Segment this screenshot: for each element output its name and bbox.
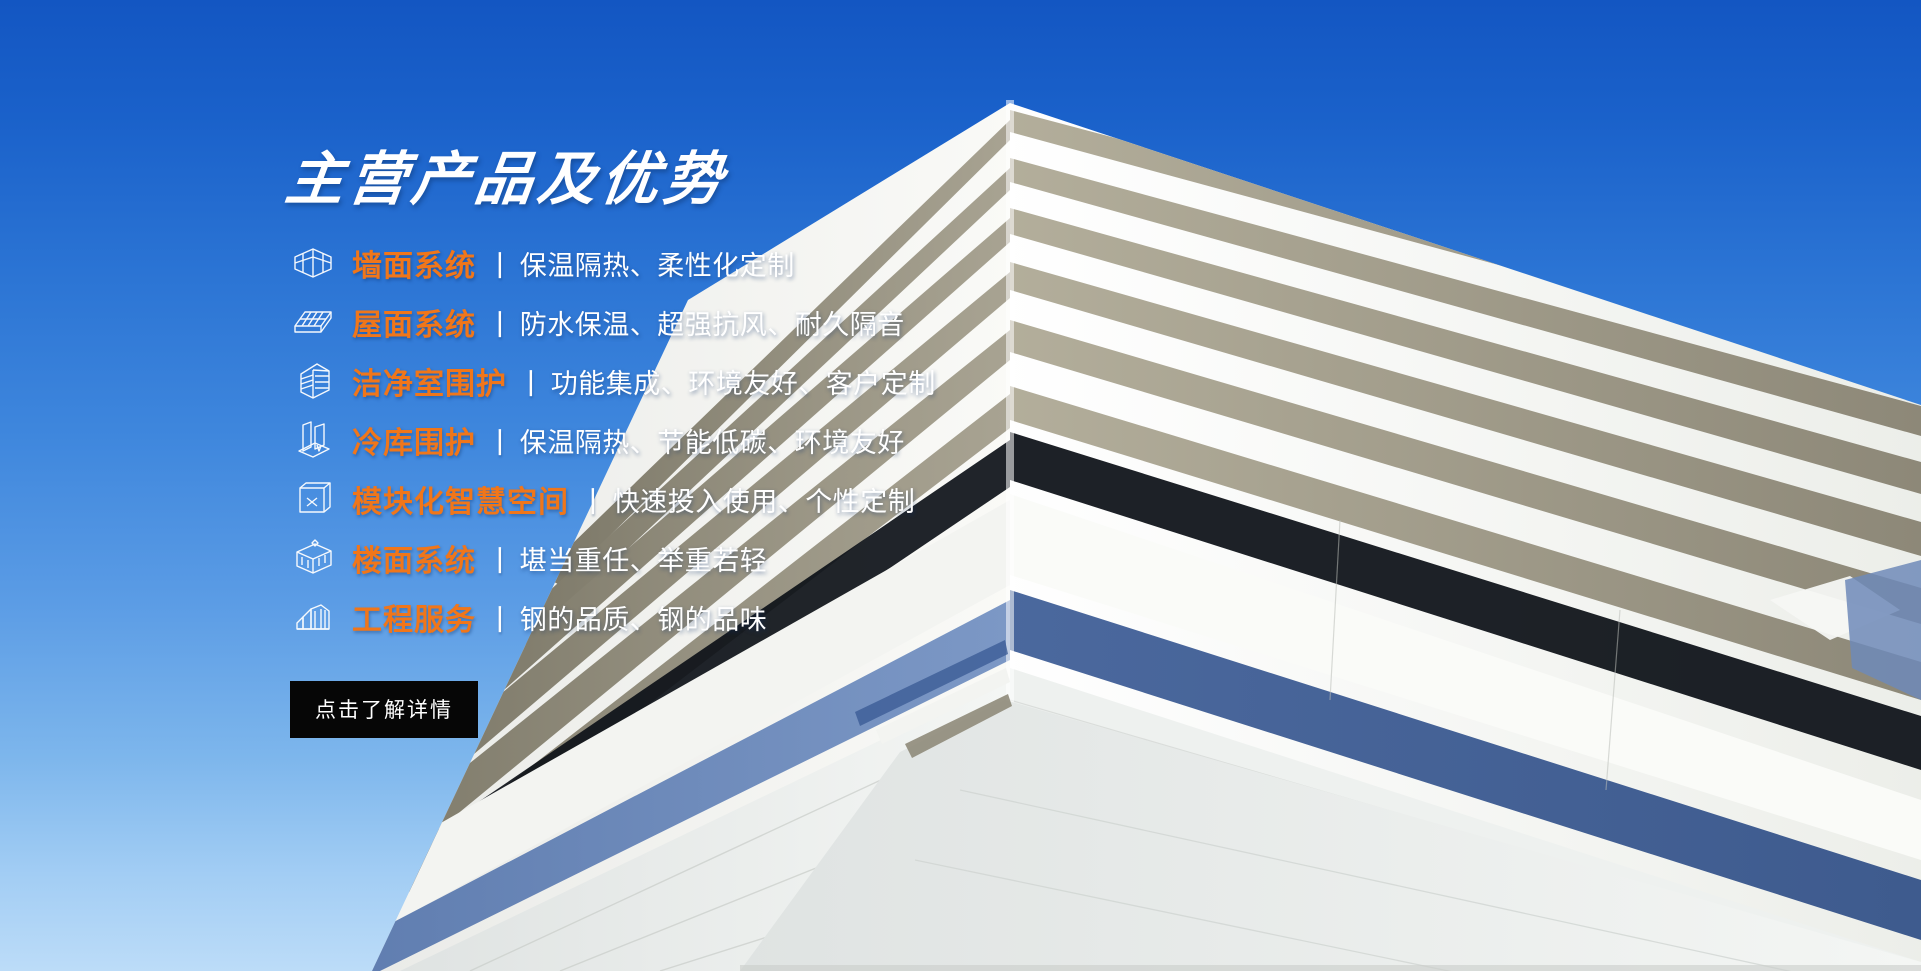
- list-item[interactable]: 墙面系统 ❙ 保温隔热、柔性化定制: [290, 234, 1290, 293]
- learn-more-button[interactable]: 点击了解详情: [290, 681, 478, 738]
- product-advantage-banner: 主营产品及优势 墙面系统 ❙ 保温隔热、柔性化定制: [0, 0, 1921, 971]
- product-name: 模块化智慧空间: [352, 477, 569, 521]
- separator-bar: ❙: [494, 602, 506, 633]
- cold-storage-icon: [290, 418, 336, 462]
- separator-bar: ❙: [494, 248, 506, 279]
- list-item[interactable]: 冷库围护 ❙ 保温隔热、节能低碳、环境友好: [290, 411, 1290, 470]
- list-item[interactable]: 屋面系统 ❙ 防水保温、超强抗风、耐久隔音: [290, 293, 1290, 352]
- separator-bar: ❙: [494, 543, 506, 574]
- product-list: 墙面系统 ❙ 保温隔热、柔性化定制 屋面系统 ❙ 防水保温、超强抗风、耐久隔音: [290, 234, 1290, 647]
- floor-deck-icon: [290, 536, 336, 580]
- separator-bar: ❙: [525, 366, 537, 397]
- list-item[interactable]: 模块化智慧空间 ❙ 快速投入使用、个性定制: [290, 470, 1290, 529]
- separator-bar: ❙: [587, 484, 599, 515]
- page-title: 主营产品及优势: [282, 148, 1294, 212]
- wall-panel-icon: [290, 241, 336, 285]
- separator-bar: ❙: [494, 307, 506, 338]
- product-desc: 快速投入使用、个性定制: [613, 480, 916, 519]
- roof-panel-icon: [290, 300, 336, 344]
- product-name: 墙面系统: [352, 241, 476, 285]
- product-desc: 钢的品质、钢的品味: [520, 598, 768, 637]
- product-name: 洁净室围护: [352, 359, 507, 403]
- cleanroom-building-icon: [290, 359, 336, 403]
- product-name: 楼面系统: [352, 536, 476, 580]
- product-name: 冷库围护: [352, 418, 476, 462]
- separator-bar: ❙: [494, 425, 506, 456]
- list-item[interactable]: 洁净室围护 ❙ 功能集成、环境友好、客户定制: [290, 352, 1290, 411]
- product-desc: 功能集成、环境友好、客户定制: [551, 362, 936, 401]
- engineering-service-icon: [290, 595, 336, 639]
- banner-content: 主营产品及优势 墙面系统 ❙ 保温隔热、柔性化定制: [290, 148, 1290, 738]
- product-desc: 防水保温、超强抗风、耐久隔音: [520, 303, 905, 342]
- product-desc: 保温隔热、柔性化定制: [520, 244, 795, 283]
- modular-cube-icon: [290, 477, 336, 521]
- product-name: 工程服务: [352, 595, 476, 639]
- product-desc: 保温隔热、节能低碳、环境友好: [520, 421, 905, 460]
- product-name: 屋面系统: [352, 300, 476, 344]
- product-desc: 堪当重任、举重若轻: [520, 539, 768, 578]
- list-item[interactable]: 工程服务 ❙ 钢的品质、钢的品味: [290, 588, 1290, 647]
- list-item[interactable]: 楼面系统 ❙ 堪当重任、举重若轻: [290, 529, 1290, 588]
